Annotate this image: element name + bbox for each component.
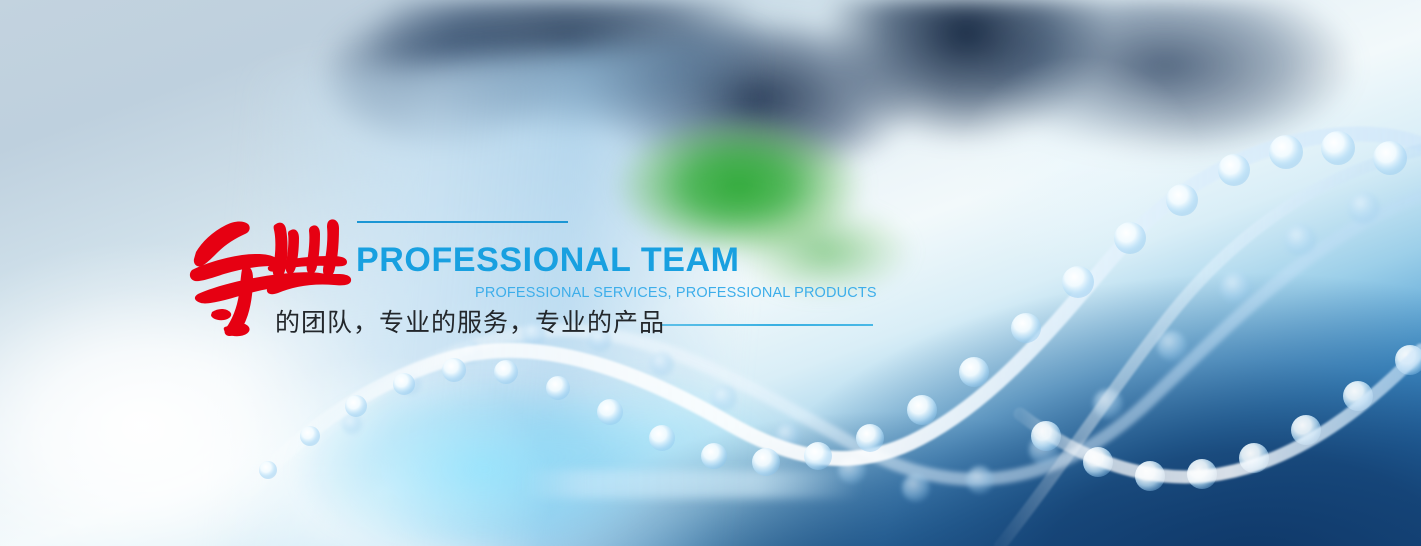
headline-professional-team: PROFESSIONAL TEAM	[356, 243, 740, 277]
top-divider-rule	[357, 221, 568, 223]
professional-team-banner: PROFESSIONAL TEAM PROFESSIONAL SERVICES,…	[0, 0, 1421, 546]
subheadline-professional-services: PROFESSIONAL SERVICES, PROFESSIONAL PROD…	[475, 286, 877, 301]
tagline-chinese: 的团队，专业的服务，专业的产品	[275, 307, 665, 338]
bottom-divider-rule	[660, 324, 873, 326]
